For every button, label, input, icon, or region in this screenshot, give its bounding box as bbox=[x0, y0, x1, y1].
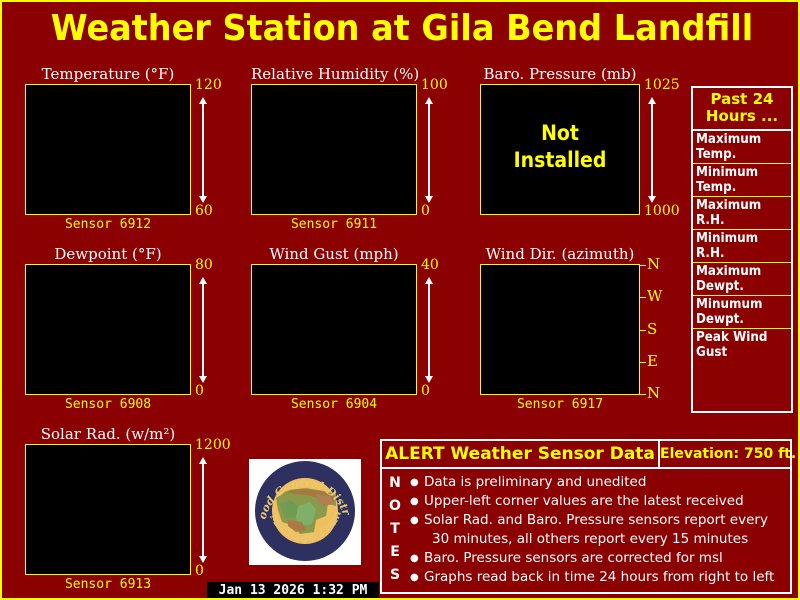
plot-area-dewpoint[interactable] bbox=[25, 264, 191, 395]
sidebar-item-maximum-temp-line1: Maximum bbox=[696, 132, 783, 147]
axis-max-relative-humidity: 100 bbox=[421, 77, 448, 93]
sidebar-item-maximum-rh[interactable]: Maximum R.H. bbox=[693, 197, 791, 230]
axis-range-arrow-wind-gust bbox=[423, 277, 437, 383]
axis-max-temperature: 120 bbox=[195, 77, 222, 93]
page-title: Weather Station at Gila Bend Landfill bbox=[30, 8, 774, 49]
axis-max-solar-radiation: 1200 bbox=[195, 437, 231, 453]
elevation-badge: Elevation: 750 ft. bbox=[660, 441, 796, 467]
axis-range-arrow-baro-pressure bbox=[646, 97, 660, 203]
sidebar-item-minimum-dewpt[interactable]: Minumum Dewpt. bbox=[693, 296, 791, 329]
sidebar-header-line2: Hours ... bbox=[693, 108, 791, 125]
sensor-label-temperature: Sensor 6912 bbox=[25, 217, 191, 232]
chart-wind-gust: Wind Gust (mph) Sensor 6904 40 0 bbox=[251, 245, 417, 400]
notes-header-title: ALERT Weather Sensor Data bbox=[382, 441, 660, 467]
sidebar-item-minimum-dewpt-line2: Dewpt. bbox=[696, 312, 783, 327]
chart-dewpoint: Dewpoint (°F) Sensor 6908 80 0 bbox=[25, 245, 191, 400]
weather-station-dashboard: Weather Station at Gila Bend Landfill Te… bbox=[0, 0, 800, 600]
note-item: Upper-left corner values are the latest … bbox=[410, 492, 790, 511]
sensor-label-solar-radiation: Sensor 6913 bbox=[25, 577, 191, 592]
notes-panel: ALERT Weather Sensor Data Elevation: 750… bbox=[380, 439, 792, 594]
plot-area-solar-radiation[interactable] bbox=[25, 444, 191, 575]
note-item: Data is preliminary and unedited bbox=[410, 473, 790, 492]
notes-vertical-letter-n: N bbox=[382, 472, 408, 495]
sidebar-item-peak-wind-gust[interactable]: Peak Wind Gust bbox=[693, 329, 791, 362]
chart-title-solar-radiation: Solar Rad. (w/m²) bbox=[25, 425, 191, 443]
sidebar-item-maximum-dewpt[interactable]: Maximum Dewpt. bbox=[693, 263, 791, 296]
chart-title-wind-gust: Wind Gust (mph) bbox=[251, 245, 417, 263]
sidebar-item-minimum-rh-line1: Minimum bbox=[696, 231, 783, 246]
plot-area-temperature[interactable] bbox=[25, 84, 191, 215]
axis-range-arrow-dewpoint bbox=[197, 277, 211, 383]
axis-min-temperature: 60 bbox=[195, 203, 213, 219]
dir-label-2: S bbox=[647, 322, 657, 337]
dir-label-0: N bbox=[647, 257, 660, 272]
axis-min-solar-radiation: 0 bbox=[195, 563, 204, 579]
sidebar-item-maximum-dewpt-line1: Maximum bbox=[696, 264, 783, 279]
plot-area-wind-direction[interactable] bbox=[480, 264, 640, 395]
sidebar-item-maximum-dewpt-line2: Dewpt. bbox=[696, 279, 783, 294]
sidebar-item-minimum-rh[interactable]: Minimum R.H. bbox=[693, 230, 791, 263]
chart-title-temperature: Temperature (°F) bbox=[25, 65, 191, 83]
baro-status-line1: Not bbox=[488, 121, 632, 145]
chart-title-relative-humidity: Relative Humidity (%) bbox=[251, 65, 417, 83]
axis-range-arrow-temperature bbox=[197, 97, 211, 203]
plot-area-relative-humidity[interactable] bbox=[251, 84, 417, 215]
timestamp: Jan 13 2026 1:32 PM bbox=[207, 582, 379, 600]
sidebar-item-maximum-temp[interactable]: Maximum Temp. bbox=[693, 131, 791, 164]
sidebar-item-minimum-temp-line1: Minimum bbox=[696, 165, 783, 180]
axis-range-arrow-relative-humidity bbox=[423, 97, 437, 203]
sensor-label-dewpoint: Sensor 6908 bbox=[25, 397, 191, 412]
note-item-text: Solar Rad. and Baro. Pressure sensors re… bbox=[424, 512, 768, 528]
notes-header: ALERT Weather Sensor Data Elevation: 750… bbox=[382, 441, 790, 469]
sidebar-item-minimum-temp[interactable]: Minimum Temp. bbox=[693, 164, 791, 197]
notes-list: Data is preliminary and unedited Upper-l… bbox=[408, 469, 790, 594]
dir-tick-2 bbox=[640, 330, 646, 331]
axis-min-baro-pressure: 1000 bbox=[644, 203, 680, 219]
sidebar-item-maximum-rh-line2: R.H. bbox=[696, 213, 783, 228]
dir-label-1: W bbox=[647, 289, 662, 304]
chart-solar-radiation: Solar Rad. (w/m²) Sensor 6913 1200 0 bbox=[25, 425, 191, 580]
note-item-text-cont: 30 minutes, all others report every 15 m… bbox=[424, 530, 790, 549]
sidebar-item-peak-wind-gust-line2: Gust bbox=[696, 345, 783, 360]
sensor-label-relative-humidity: Sensor 6911 bbox=[251, 217, 417, 232]
chart-wind-direction: Wind Dir. (azimuth) Sensor 6917 N W S E … bbox=[480, 245, 640, 400]
sidebar-item-maximum-rh-line1: Maximum bbox=[696, 198, 783, 213]
past-24-hours-panel: Past 24 Hours ... Maximum Temp. Minimum … bbox=[691, 86, 793, 413]
baro-status-line2: Installed bbox=[488, 148, 632, 172]
plot-area-wind-gust[interactable] bbox=[251, 264, 417, 395]
axis-min-wind-gust: 0 bbox=[421, 383, 430, 399]
note-item-text: Upper-left corner values are the latest … bbox=[424, 493, 744, 509]
chart-relative-humidity: Relative Humidity (%) Sensor 6911 100 0 bbox=[251, 65, 417, 220]
sidebar-header: Past 24 Hours ... bbox=[693, 88, 791, 131]
chart-title-dewpoint: Dewpoint (°F) bbox=[25, 245, 191, 263]
note-item-text: Graphs read back in time 24 hours from r… bbox=[424, 569, 774, 585]
dir-label-3: E bbox=[647, 354, 658, 369]
notes-vertical-label: N O T E S bbox=[382, 469, 408, 594]
note-item: Graphs read back in time 24 hours from r… bbox=[410, 568, 790, 587]
sensor-label-wind-direction: Sensor 6917 bbox=[480, 397, 640, 412]
axis-max-dewpoint: 80 bbox=[195, 257, 213, 273]
note-item: Solar Rad. and Baro. Pressure sensors re… bbox=[410, 511, 790, 549]
sidebar-item-minimum-dewpt-line1: Minumum bbox=[696, 297, 783, 312]
sidebar-item-minimum-rh-line2: R.H. bbox=[696, 246, 783, 261]
chart-baro-pressure: Baro. Pressure (mb) Not Installed 1025 1… bbox=[480, 65, 640, 220]
axis-min-dewpoint: 0 bbox=[195, 383, 204, 399]
dir-label-4: N bbox=[647, 386, 660, 401]
axis-max-baro-pressure: 1025 bbox=[644, 77, 680, 93]
sidebar-item-peak-wind-gust-line1: Peak Wind bbox=[696, 330, 783, 345]
notes-vertical-letter-o: O bbox=[382, 495, 408, 518]
sidebar-item-maximum-temp-line2: Temp. bbox=[696, 147, 783, 162]
dir-tick-4 bbox=[640, 394, 646, 395]
chart-title-baro-pressure: Baro. Pressure (mb) bbox=[480, 65, 640, 83]
sidebar-header-line1: Past 24 bbox=[693, 91, 791, 108]
maricopa-county-flood-control-seal-icon: Flood Control District of Maricopa Count… bbox=[254, 460, 356, 562]
dir-tick-1 bbox=[640, 297, 646, 298]
dir-tick-0 bbox=[640, 265, 646, 266]
axis-min-relative-humidity: 0 bbox=[421, 203, 430, 219]
notes-vertical-letter-t: T bbox=[382, 518, 408, 541]
notes-body: N O T E S Data is preliminary and unedit… bbox=[382, 469, 790, 594]
axis-range-arrow-solar-radiation bbox=[197, 457, 211, 563]
note-item-text: Data is preliminary and unedited bbox=[424, 474, 646, 490]
note-item: Baro. Pressure sensors are corrected for… bbox=[410, 549, 790, 568]
chart-temperature: Temperature (°F) Sensor 6912 120 60 bbox=[25, 65, 191, 220]
sidebar-item-minimum-temp-line2: Temp. bbox=[696, 180, 783, 195]
notes-vertical-letter-s: S bbox=[382, 564, 408, 587]
chart-title-wind-direction: Wind Dir. (azimuth) bbox=[480, 245, 640, 263]
sensor-label-wind-gust: Sensor 6904 bbox=[251, 397, 417, 412]
notes-vertical-letter-e: E bbox=[382, 541, 408, 564]
axis-max-wind-gust: 40 bbox=[421, 257, 439, 273]
dir-tick-3 bbox=[640, 362, 646, 363]
note-item-text: Baro. Pressure sensors are corrected for… bbox=[424, 550, 723, 566]
